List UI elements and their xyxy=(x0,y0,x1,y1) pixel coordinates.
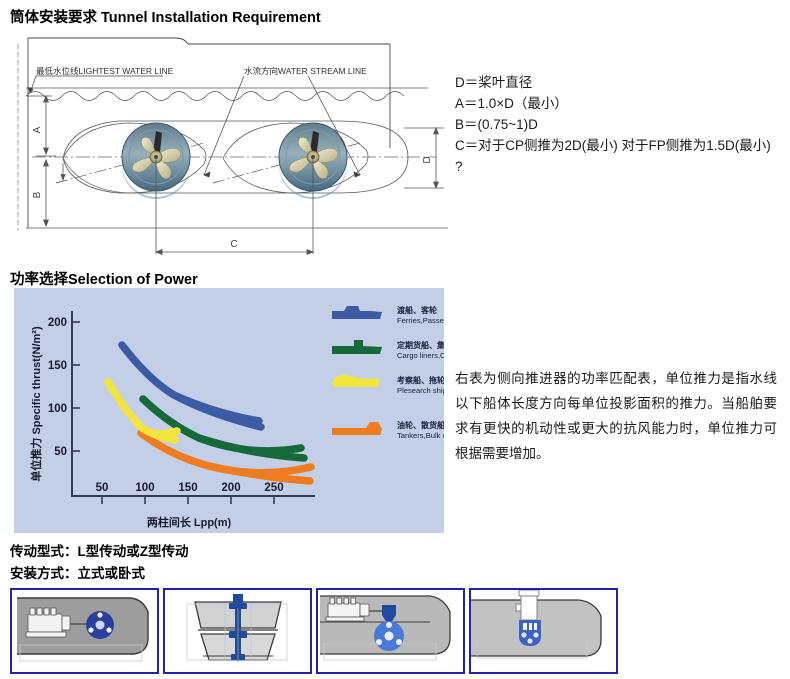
dimension-label-c: C xyxy=(230,239,237,250)
dimension-a xyxy=(26,96,56,156)
dimension-label-a: A xyxy=(32,126,43,133)
thumbnail-vertical-column-thruster[interactable] xyxy=(469,588,618,674)
y-tick-150: 150 xyxy=(48,360,67,372)
formula-line-a: A＝1.0×D（最小） xyxy=(455,93,785,114)
tunnel-offset-tick xyxy=(61,163,65,180)
x-tick-150: 150 xyxy=(178,482,197,494)
legend-label-en-research: Plesearch ships,Tugs,Other special vesse… xyxy=(397,386,444,395)
dimension-label-b: B xyxy=(32,191,43,198)
thumbnail-vertical-l-drive-section[interactable] xyxy=(163,588,312,674)
x-tick-250: 250 xyxy=(264,482,283,494)
formula-line-d: D＝桨叶直径 xyxy=(455,72,785,93)
thumbnail-engine-z-drive-thruster[interactable] xyxy=(316,588,465,674)
page-title-tunnel-installation: 筒体安装要求 Tunnel Installation Requirement xyxy=(10,6,321,27)
x-tick-50: 50 xyxy=(96,482,109,494)
legend-label-en-cargo: Cargo liners,Container ships xyxy=(397,351,444,360)
x-axis-title: 两柱间长 Lpp(m) xyxy=(147,515,232,529)
page-title-selection-of-power: 功率选择Selection of Power xyxy=(10,268,198,289)
installation-arrangement-thumbnails xyxy=(10,588,780,674)
thruster-icon-1 xyxy=(86,611,114,639)
legend-label-cn-tankers: 油轮、散货船 xyxy=(397,420,444,430)
y-tick-100: 100 xyxy=(48,403,67,415)
thumbnail-horizontal-engine-thruster[interactable] xyxy=(10,588,159,674)
formula-line-question: ? xyxy=(455,156,785,177)
legend-label-cn-research: 考察船、拖轮及特殊船 xyxy=(397,375,444,385)
tunnel-installation-drawing: A B D C xyxy=(8,30,448,260)
legend-label-cn-ferries: 渡船、客轮 xyxy=(397,305,437,315)
dimension-b xyxy=(26,160,448,228)
legend-label-cn-cargo: 定期货船、集装箱船 xyxy=(396,340,444,350)
formula-line-c: C＝对于CP侧推为2D(最小) 对于FP侧推为1.5D(最小) xyxy=(455,135,785,156)
power-selection-chart: 200 150 100 50 50 100 150 200 250 两柱间长 L… xyxy=(14,288,444,533)
lightest-waterline-leader xyxy=(29,76,164,93)
y-axis-title: 单位推力 Specific thrust(N/m²) xyxy=(29,326,43,482)
water-surface-wave xyxy=(26,92,404,101)
dimension-label-d: D xyxy=(422,156,433,163)
legend-label-en-ferries: Ferries,Passenger ships xyxy=(397,316,444,325)
annotation-water-stream-line: 水流方向WATER STREAM LINE xyxy=(244,66,367,76)
y-tick-50: 50 xyxy=(54,446,67,458)
thruster-icon-4 xyxy=(519,620,541,646)
x-tick-100: 100 xyxy=(135,482,154,494)
thruster-icon-3 xyxy=(374,621,404,651)
drive-type-line: 传动型式：L型传动或Z型传动 xyxy=(10,540,189,560)
formula-line-b: B＝(0.75~1)D xyxy=(455,114,785,135)
install-type-line: 安装方式：立式或卧式 xyxy=(10,562,145,582)
y-tick-200: 200 xyxy=(48,317,67,329)
legend-label-en-tankers: Tankers,Bulk carriers xyxy=(397,431,444,440)
annotation-lightest-water-line: 最低水位线LIGHTEST WATER LINE xyxy=(36,66,174,76)
x-tick-200: 200 xyxy=(221,482,240,494)
power-description-paragraph: 右表为侧向推进器的功率匹配表，单位推力是指水线以下船体长度方向每单位投影面积的推… xyxy=(455,366,777,466)
formula-block: D＝桨叶直径 A＝1.0×D（最小） B＝(0.75~1)D C＝对于CP侧推为… xyxy=(455,72,785,177)
